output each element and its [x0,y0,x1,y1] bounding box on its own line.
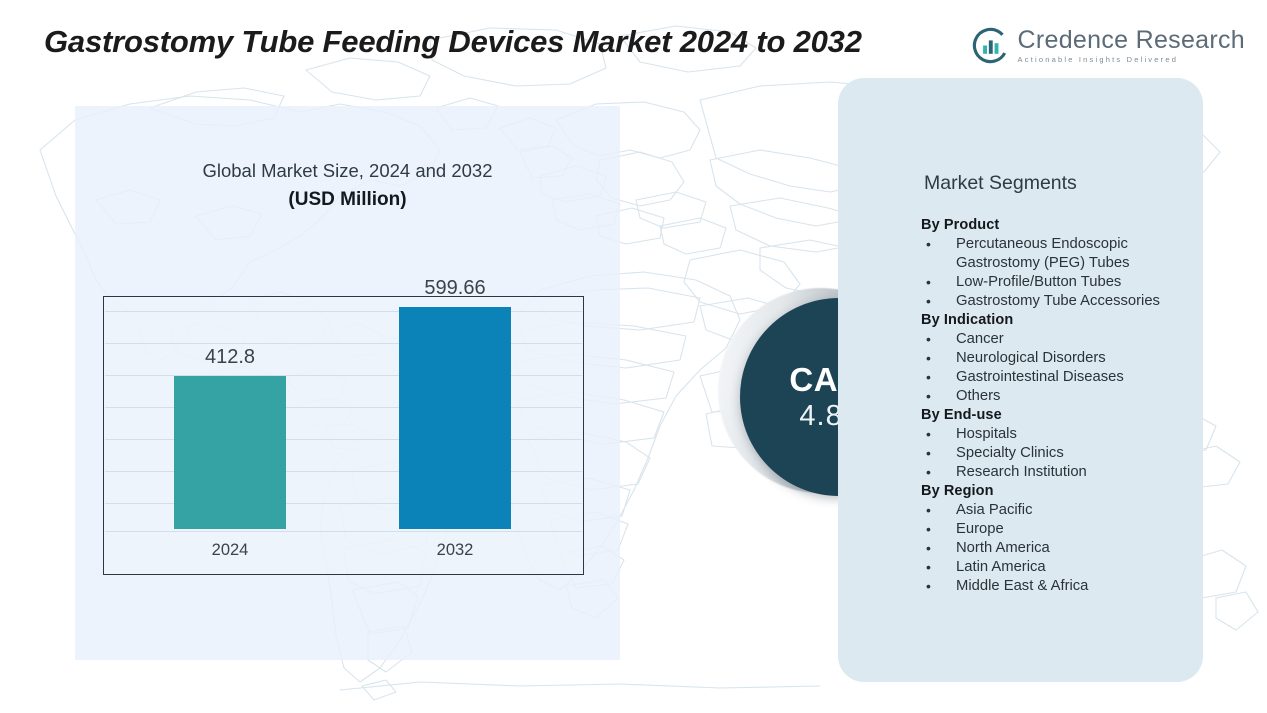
segment-group-title: By End-use [921,406,1211,425]
segment-item: •Latin America [921,558,1211,577]
bullet-icon: • [926,444,931,463]
chart-subtitle: (USD Million) [75,189,620,211]
logo-company-name: Credence Research [1018,28,1245,53]
segment-group-title: By Product [921,216,1211,235]
segment-item: •Percutaneous Endoscopic Gastrostomy (PE… [921,235,1211,273]
segment-item: •Others [921,387,1211,406]
segment-item: •Research Institution [921,463,1211,482]
segment-item-label: North America [956,540,1050,556]
segment-item-label: Research Institution [956,464,1087,480]
bar-category-2024: 2024 [174,541,286,560]
bar-value-2032: 599.66 [399,277,511,300]
segment-item-label: Cancer [956,331,1004,347]
segment-item: •Asia Pacific [921,501,1211,520]
infographic-canvas: Gastrostomy Tube Feeding Devices Market … [0,0,1267,713]
segments-heading: Market Segments [924,172,1077,195]
segment-item-label: Latin America [956,559,1046,575]
bullet-icon: • [926,273,931,292]
bar-chart-circle-icon [972,27,1009,64]
segment-item-label: Asia Pacific [956,502,1032,518]
chart-title: Global Market Size, 2024 and 2032 [75,160,620,182]
segment-item-label: Specialty Clinics [956,445,1064,461]
bar-2024 [174,376,286,529]
bullet-icon: • [926,558,931,577]
segment-item-label: Low-Profile/Button Tubes [956,274,1121,290]
segment-item-label: Hospitals [956,426,1017,442]
segment-item-label: Gastrointestinal Diseases [956,369,1124,385]
bar-category-2032: 2032 [399,541,511,560]
bullet-icon: • [926,330,931,349]
bar-2032 [399,307,511,529]
segment-group-title: By Region [921,482,1211,501]
segment-item: •Low-Profile/Button Tubes [921,273,1211,292]
bullet-icon: • [926,292,931,311]
segment-item-label: Europe [956,521,1004,537]
bullet-icon: • [926,577,931,596]
segment-item: •Cancer [921,330,1211,349]
segment-group-title: By Indication [921,311,1211,330]
segment-item-label: Percutaneous Endoscopic Gastrostomy (PEG… [956,236,1130,271]
bar-chart: 412.8 2024 599.66 2032 [103,296,584,575]
bullet-icon: • [926,235,931,254]
bullet-icon: • [926,501,931,520]
segment-item: •Specialty Clinics [921,444,1211,463]
segments-list: By Product•Percutaneous Endoscopic Gastr… [921,216,1211,596]
segment-item: •North America [921,539,1211,558]
bullet-icon: • [926,387,931,406]
page-title: Gastrostomy Tube Feeding Devices Market … [44,22,974,62]
segment-item: •Hospitals [921,425,1211,444]
gridline [105,531,582,532]
segment-item: •Middle East & Africa [921,577,1211,596]
segment-item: •Europe [921,520,1211,539]
segment-item: •Neurological Disorders [921,349,1211,368]
brand-logo: Credence Research Actionable Insights De… [972,27,1245,64]
bar-value-2024: 412.8 [174,346,286,369]
bullet-icon: • [926,368,931,387]
bullet-icon: • [926,463,931,482]
logo-text: Credence Research Actionable Insights De… [1018,28,1245,64]
segment-item-label: Gastrostomy Tube Accessories [956,293,1160,309]
segment-item-label: Neurological Disorders [956,350,1106,366]
segment-item: •Gastrointestinal Diseases [921,368,1211,387]
bullet-icon: • [926,349,931,368]
bullet-icon: • [926,520,931,539]
bullet-icon: • [926,425,931,444]
segment-item: •Gastrostomy Tube Accessories [921,292,1211,311]
bullet-icon: • [926,539,931,558]
segment-item-label: Others [956,388,1000,404]
segment-item-label: Middle East & Africa [956,578,1088,594]
logo-tagline: Actionable Insights Delivered [1018,56,1245,64]
